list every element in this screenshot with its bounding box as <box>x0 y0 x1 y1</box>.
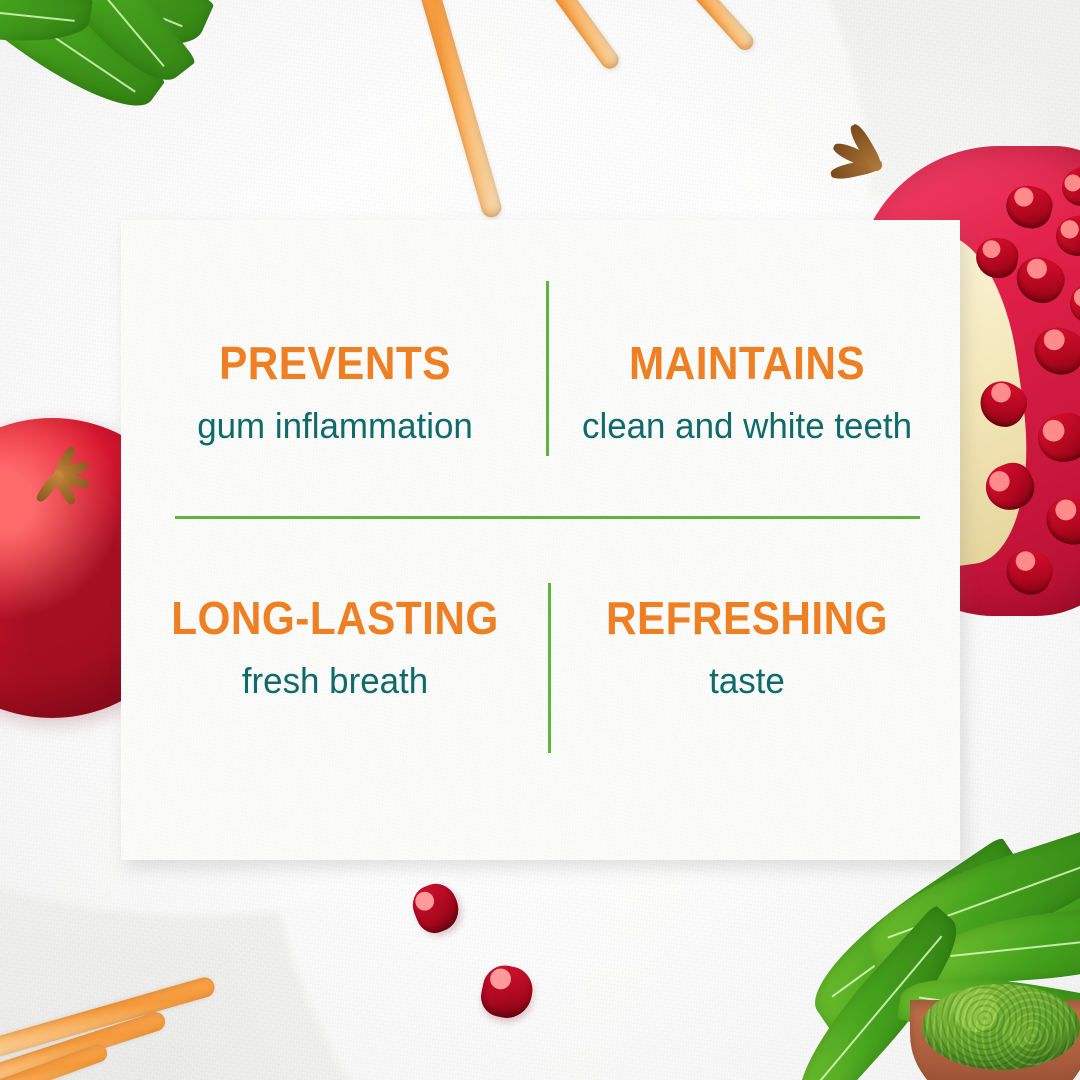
twig-icon <box>412 0 503 220</box>
aril-icon <box>1002 181 1057 233</box>
aril-icon <box>1065 276 1080 330</box>
benefit-subline: gum inflammation <box>141 408 529 444</box>
benefit-subline: fresh breath <box>141 663 529 699</box>
benefit-item-maintains: MAINTAINS clean and white teeth <box>547 340 947 444</box>
benefit-item-refreshing: REFRESHING taste <box>547 595 947 699</box>
product-benefits-graphic: PREVENTS gum inflammation MAINTAINS clea… <box>0 0 1080 1080</box>
aril-icon <box>1009 250 1071 311</box>
benefits-card: PREVENTS gum inflammation MAINTAINS clea… <box>121 220 960 860</box>
benefit-headline: LONG-LASTING <box>151 595 519 641</box>
benefit-item-long-lasting: LONG-LASTING fresh breath <box>135 595 535 699</box>
divider-horizontal <box>175 516 920 519</box>
aril-icon <box>999 543 1058 601</box>
benefit-subline: clean and white teeth <box>553 408 941 444</box>
aril-icon <box>477 961 537 1022</box>
benefit-headline: PREVENTS <box>151 340 519 386</box>
benefit-headline: MAINTAINS <box>563 340 931 386</box>
benefit-headline: REFRESHING <box>563 595 931 641</box>
benefits-grid: PREVENTS gum inflammation MAINTAINS clea… <box>121 220 960 860</box>
benefit-item-prevents: PREVENTS gum inflammation <box>135 340 535 444</box>
twig-icon <box>528 0 623 72</box>
aril-icon <box>1028 321 1080 380</box>
pomegranate-crown <box>28 452 106 514</box>
aril-icon <box>407 878 466 939</box>
aril-icon <box>1056 161 1080 213</box>
benefit-subline: taste <box>553 663 941 699</box>
aril-icon <box>1033 408 1080 467</box>
aril-icon <box>1041 492 1080 550</box>
aril-icon <box>1053 212 1080 259</box>
neem-paste <box>922 984 1080 1070</box>
twig-icon <box>660 0 757 54</box>
